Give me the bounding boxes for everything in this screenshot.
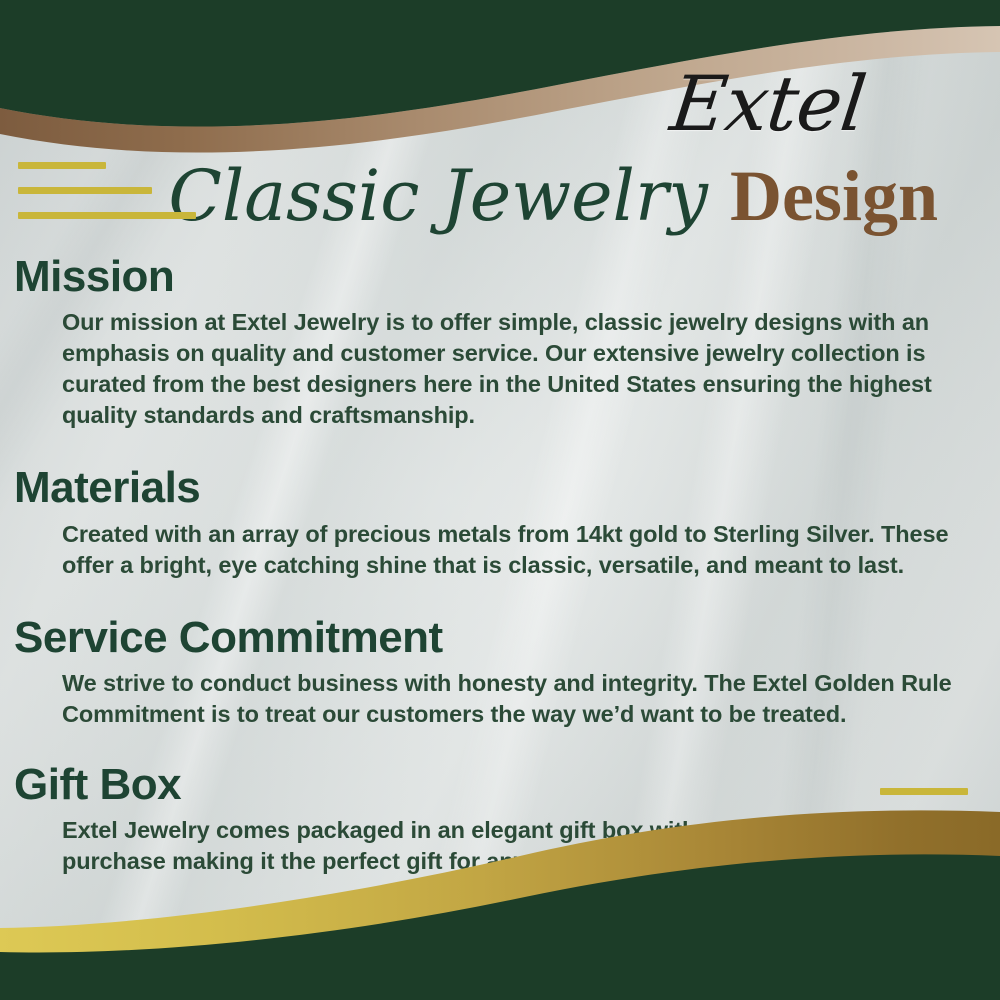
section-heading-service-commitment: Service Commitment: [0, 613, 1000, 662]
brand-logo-extel: Extel: [603, 66, 932, 142]
title-classic-jewelry: Classic Jewelry: [168, 161, 708, 231]
title-design: Design: [730, 160, 938, 232]
section-heading-materials: Materials: [0, 463, 1000, 512]
section-heading-mission: Mission: [0, 252, 1000, 301]
gold-rule-short: [18, 162, 106, 169]
section-body-materials: Created with an array of precious metals…: [0, 519, 997, 581]
gold-rule-long: [18, 212, 196, 219]
bottom-wave-banner: [0, 780, 1000, 1000]
section-body-service-commitment: We strive to conduct business with hones…: [0, 668, 982, 730]
section-service-commitment: Service Commitment We strive to conduct …: [0, 613, 1000, 730]
gold-rules-top-left: [18, 162, 196, 237]
poster-canvas: Extel Classic Jewelry Design Mission Our…: [0, 0, 1000, 1000]
gold-rule-medium: [18, 187, 152, 194]
section-mission: Mission Our mission at Extel Jewelry is …: [0, 252, 1000, 431]
section-materials: Materials Created with an array of preci…: [0, 463, 1000, 580]
section-body-mission: Our mission at Extel Jewelry is to offer…: [0, 307, 1000, 431]
